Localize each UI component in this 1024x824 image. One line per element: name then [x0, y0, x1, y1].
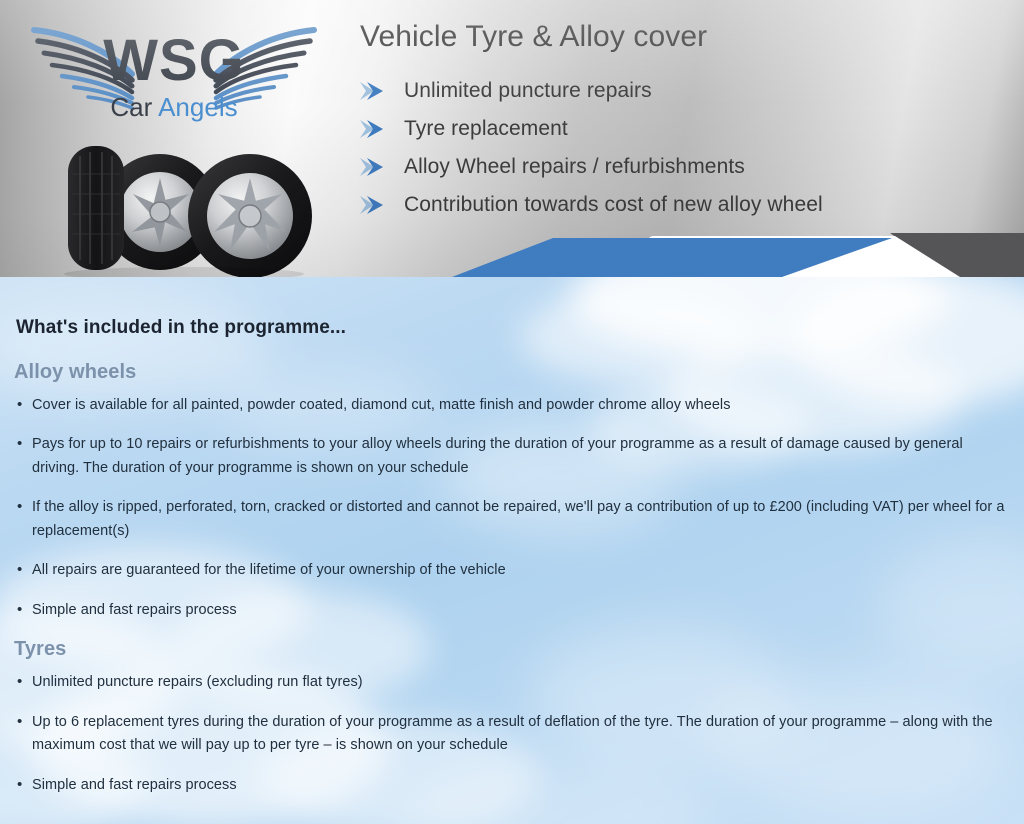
list-item: Simple and fast repairs process [14, 599, 1010, 622]
group-heading-alloy-wheels: Alloy wheels [14, 361, 1010, 384]
group-heading-tyres: Tyres [14, 638, 1010, 661]
list-item: Unlimited puncture repairs (excluding ru… [14, 671, 1010, 694]
alloy-wheels-list: Cover is available for all painted, powd… [14, 394, 1010, 622]
list-item: Up to 6 replacement tyres during the dur… [14, 711, 1010, 758]
list-item: If the alloy is ripped, perforated, torn… [14, 496, 1010, 543]
content-area: What's included in the programme... Allo… [0, 277, 1024, 824]
banner-angle-decoration [0, 0, 1024, 277]
page-section-title: What's included in the programme... [16, 317, 1010, 339]
programme-content: What's included in the programme... Allo… [0, 277, 1024, 813]
list-item: Simple and fast repairs process [14, 774, 1010, 797]
promo-page: WSG Car Angels [0, 0, 1024, 824]
tyres-list: Unlimited puncture repairs (excluding ru… [14, 671, 1010, 797]
list-item: Pays for up to 10 repairs or refurbishme… [14, 433, 1010, 480]
list-item: All repairs are guaranteed for the lifet… [14, 559, 1010, 582]
header-banner: WSG Car Angels [0, 0, 1024, 277]
list-item: Cover is available for all painted, powd… [14, 394, 1010, 417]
